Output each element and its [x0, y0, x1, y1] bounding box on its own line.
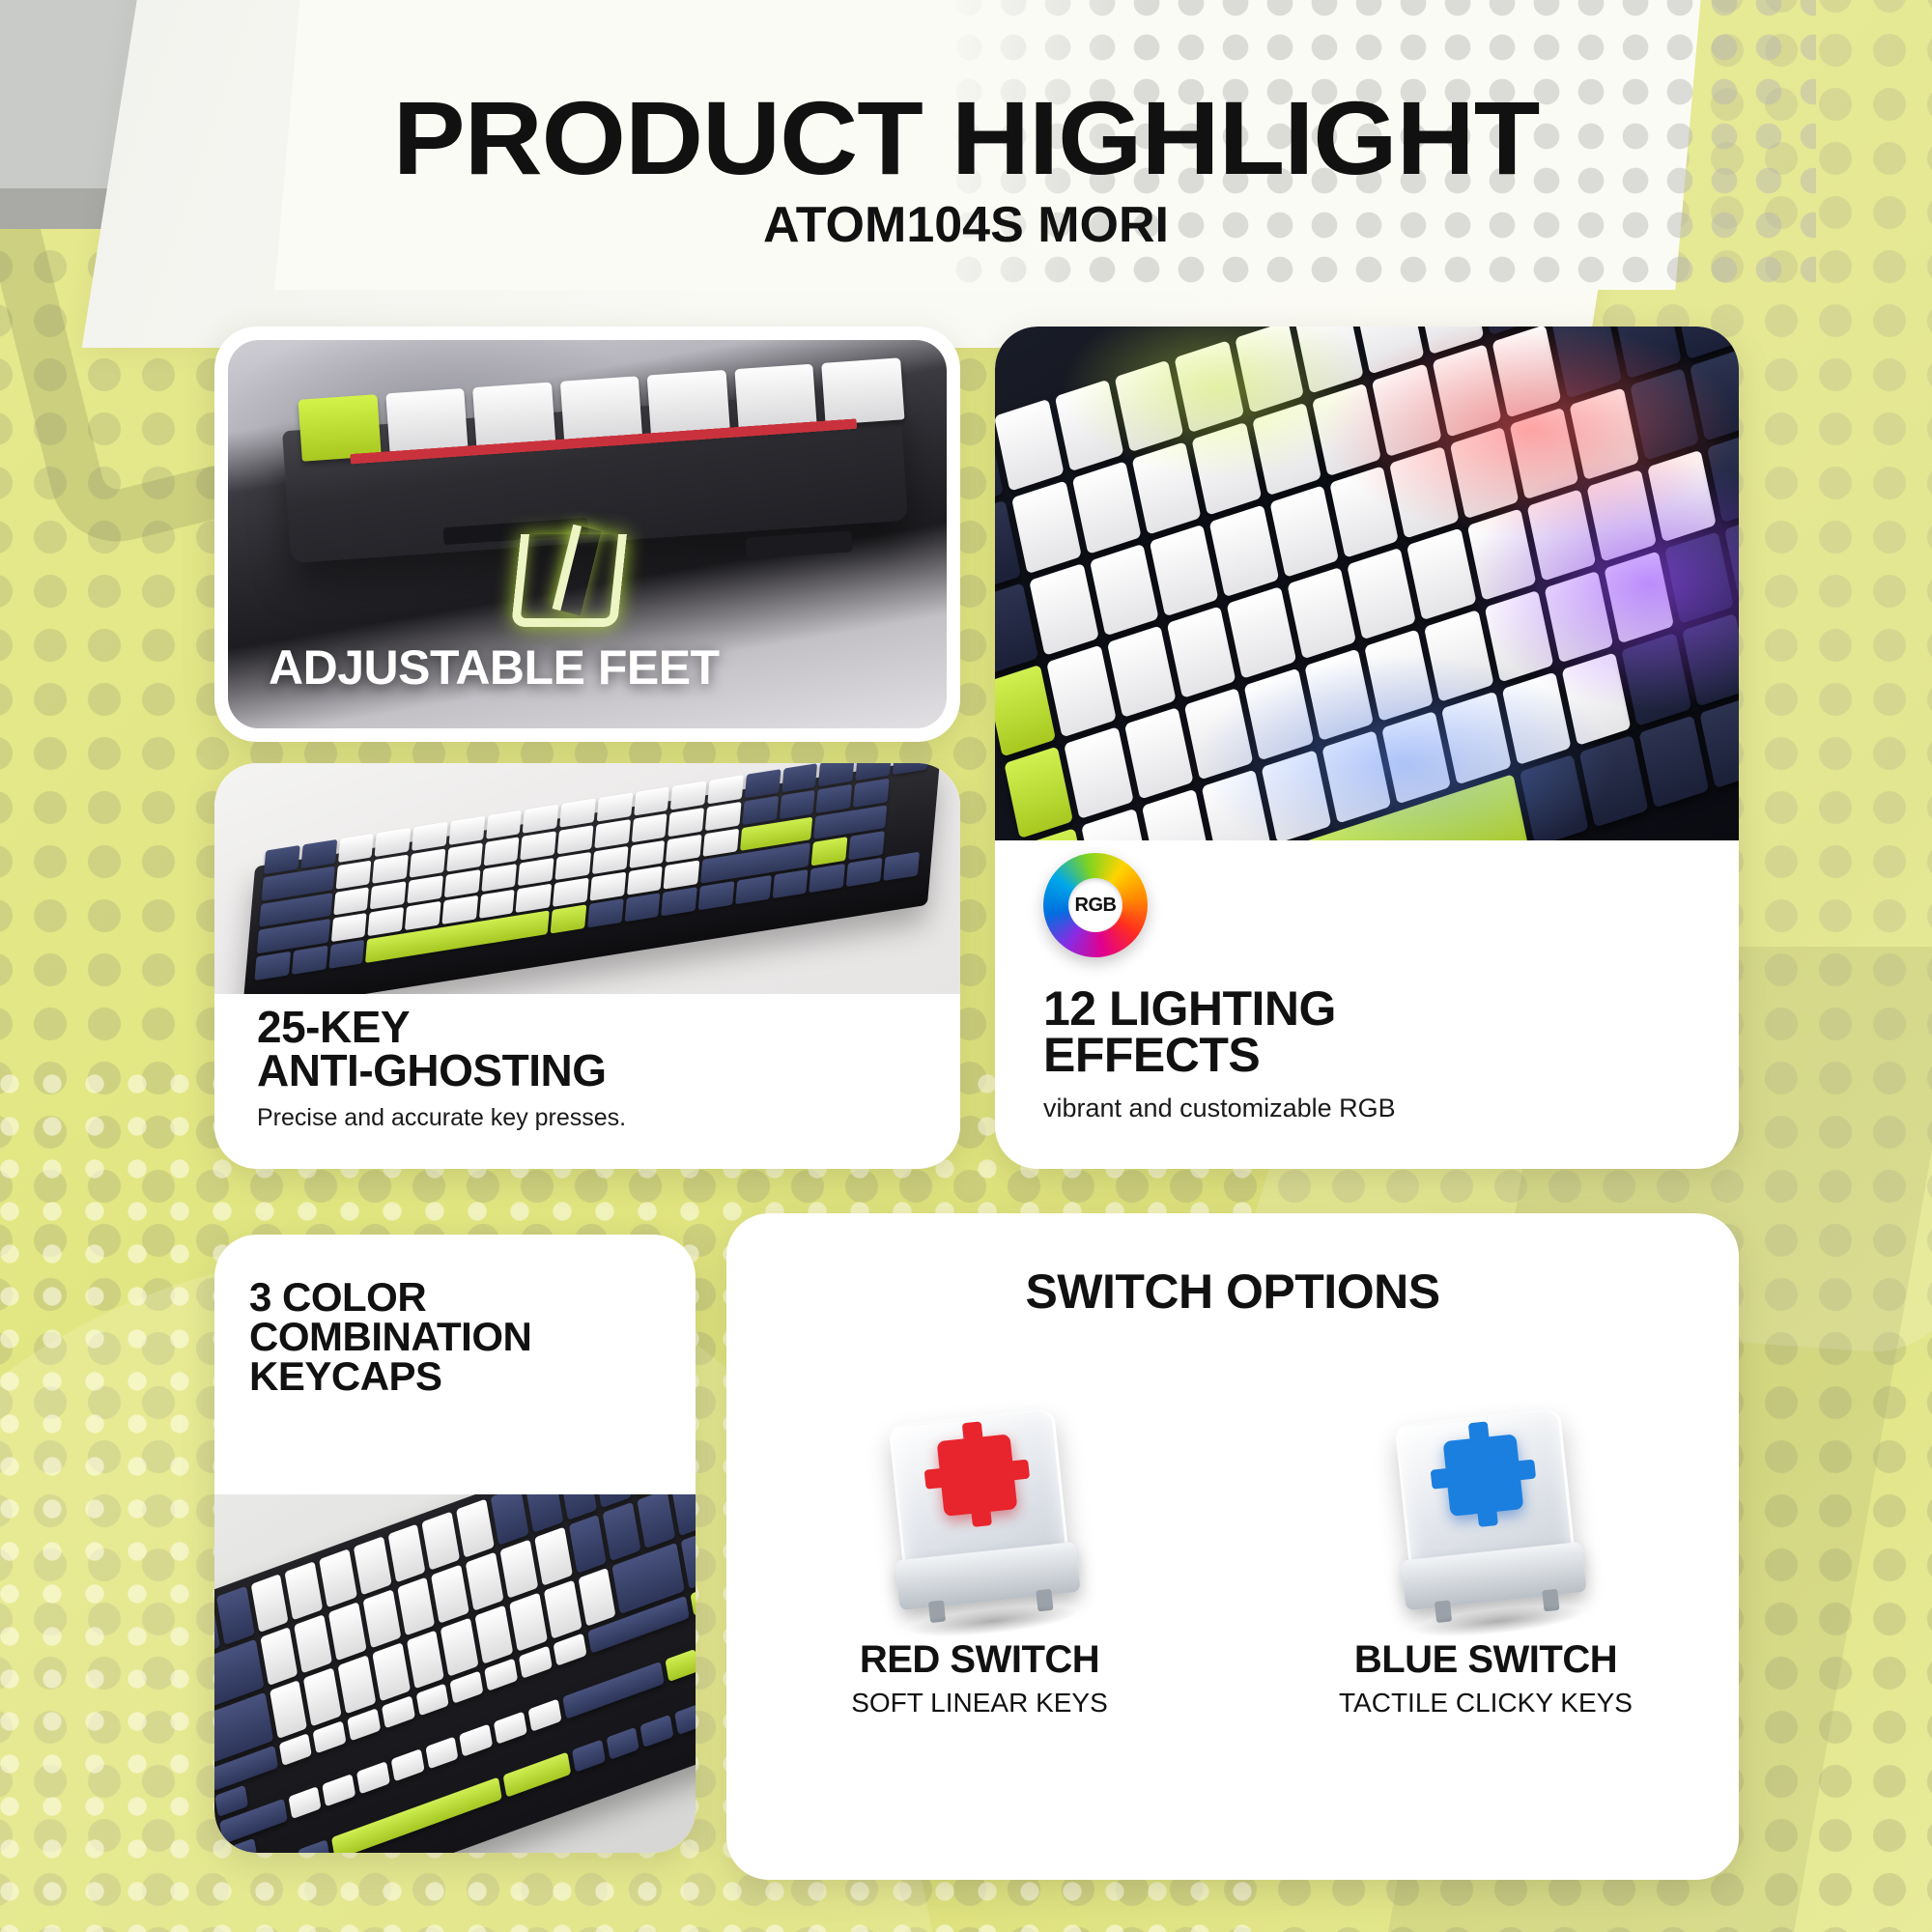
- rgb-badge-icon: RGB: [1043, 853, 1148, 957]
- red-switch-image: [726, 1358, 1233, 1638]
- keycap: [735, 364, 818, 432]
- switch-stem-blue: [1443, 1434, 1524, 1517]
- red-switch-illustration: [872, 1378, 1088, 1619]
- keycap: [647, 370, 730, 438]
- page-title: PRODUCT HIGHLIGHT: [0, 89, 1932, 188]
- rgb-badge-label: RGB: [1075, 895, 1117, 917]
- card-anti-ghosting: 25-KEY ANTI-GHOSTING Precise and accurat…: [214, 763, 960, 1169]
- keycap: [822, 357, 905, 425]
- rgb-keyboard-photo: [995, 327, 1739, 840]
- switch-option-red: RED SWITCH SOFT LINEAR KEYS: [726, 1358, 1233, 1719]
- rgb-glow-overlay: [995, 327, 1739, 840]
- adjustable-feet-photo: ADJUSTABLE FEET: [228, 340, 947, 728]
- card-keycaps: 3 COLOR COMBINATION KEYCAPS: [214, 1235, 696, 1853]
- page-header: PRODUCT HIGHLIGHT ATOM104S MORI: [0, 89, 1932, 250]
- switch-options-grid: RED SWITCH SOFT LINEAR KEYS BLUE SWITCH …: [726, 1358, 1739, 1719]
- card-adjustable-feet: ADJUSTABLE FEET: [214, 327, 960, 742]
- switch-stem-red: [937, 1434, 1018, 1517]
- lighting-heading-line2: EFFECTS: [1043, 1028, 1260, 1082]
- keycap: [385, 388, 469, 456]
- keycaps-heading-line2: COMBINATION: [249, 1314, 531, 1359]
- blue-switch-name: BLUE SWITCH: [1233, 1638, 1739, 1682]
- keycap: [298, 394, 382, 462]
- lighting-subtext: vibrant and customizable RGB: [1043, 1094, 1700, 1123]
- anti-ghosting-subtext: Precise and accurate key presses.: [257, 1104, 931, 1132]
- keycaps-photo: [214, 1494, 696, 1853]
- keycaps-heading-line3: KEYCAPS: [249, 1353, 442, 1399]
- card-lighting-effects: RGB 12 LIGHTING EFFECTS vibrant and cust…: [995, 327, 1739, 1169]
- blue-switch-illustration: [1378, 1378, 1594, 1619]
- adjustable-feet-caption: ADJUSTABLE FEET: [269, 639, 720, 696]
- keycaps-heading-line1: 3 COLOR: [249, 1274, 426, 1320]
- keycaps-board-illustration: [214, 1494, 696, 1853]
- card-switch-options: SWITCH OPTIONS RED SWITCH SOFT LINEAR KE…: [726, 1213, 1739, 1880]
- keycap: [560, 376, 643, 443]
- anti-ghosting-heading-line2: ANTI-GHOSTING: [257, 1045, 606, 1095]
- switch-option-blue: BLUE SWITCH TACTILE CLICKY KEYS: [1233, 1358, 1739, 1719]
- keycaps-text: 3 COLOR COMBINATION KEYCAPS: [249, 1277, 676, 1396]
- anti-ghosting-text: 25-KEY ANTI-GHOSTING Precise and accurat…: [257, 1006, 931, 1132]
- page-subtitle: ATOM104S MORI: [0, 200, 1932, 250]
- foot-slot-illustration: [745, 530, 852, 559]
- keycap: [473, 383, 556, 450]
- blue-switch-image: [1233, 1358, 1739, 1638]
- red-switch-desc: SOFT LINEAR KEYS: [726, 1688, 1233, 1719]
- red-switch-name: RED SWITCH: [726, 1638, 1233, 1682]
- lighting-effects-text: 12 LIGHTING EFFECTS vibrant and customiz…: [1043, 985, 1700, 1123]
- anti-ghosting-photo: [214, 763, 960, 994]
- switch-options-title: SWITCH OPTIONS: [726, 1264, 1739, 1320]
- blue-switch-desc: TACTILE CLICKY KEYS: [1233, 1688, 1739, 1719]
